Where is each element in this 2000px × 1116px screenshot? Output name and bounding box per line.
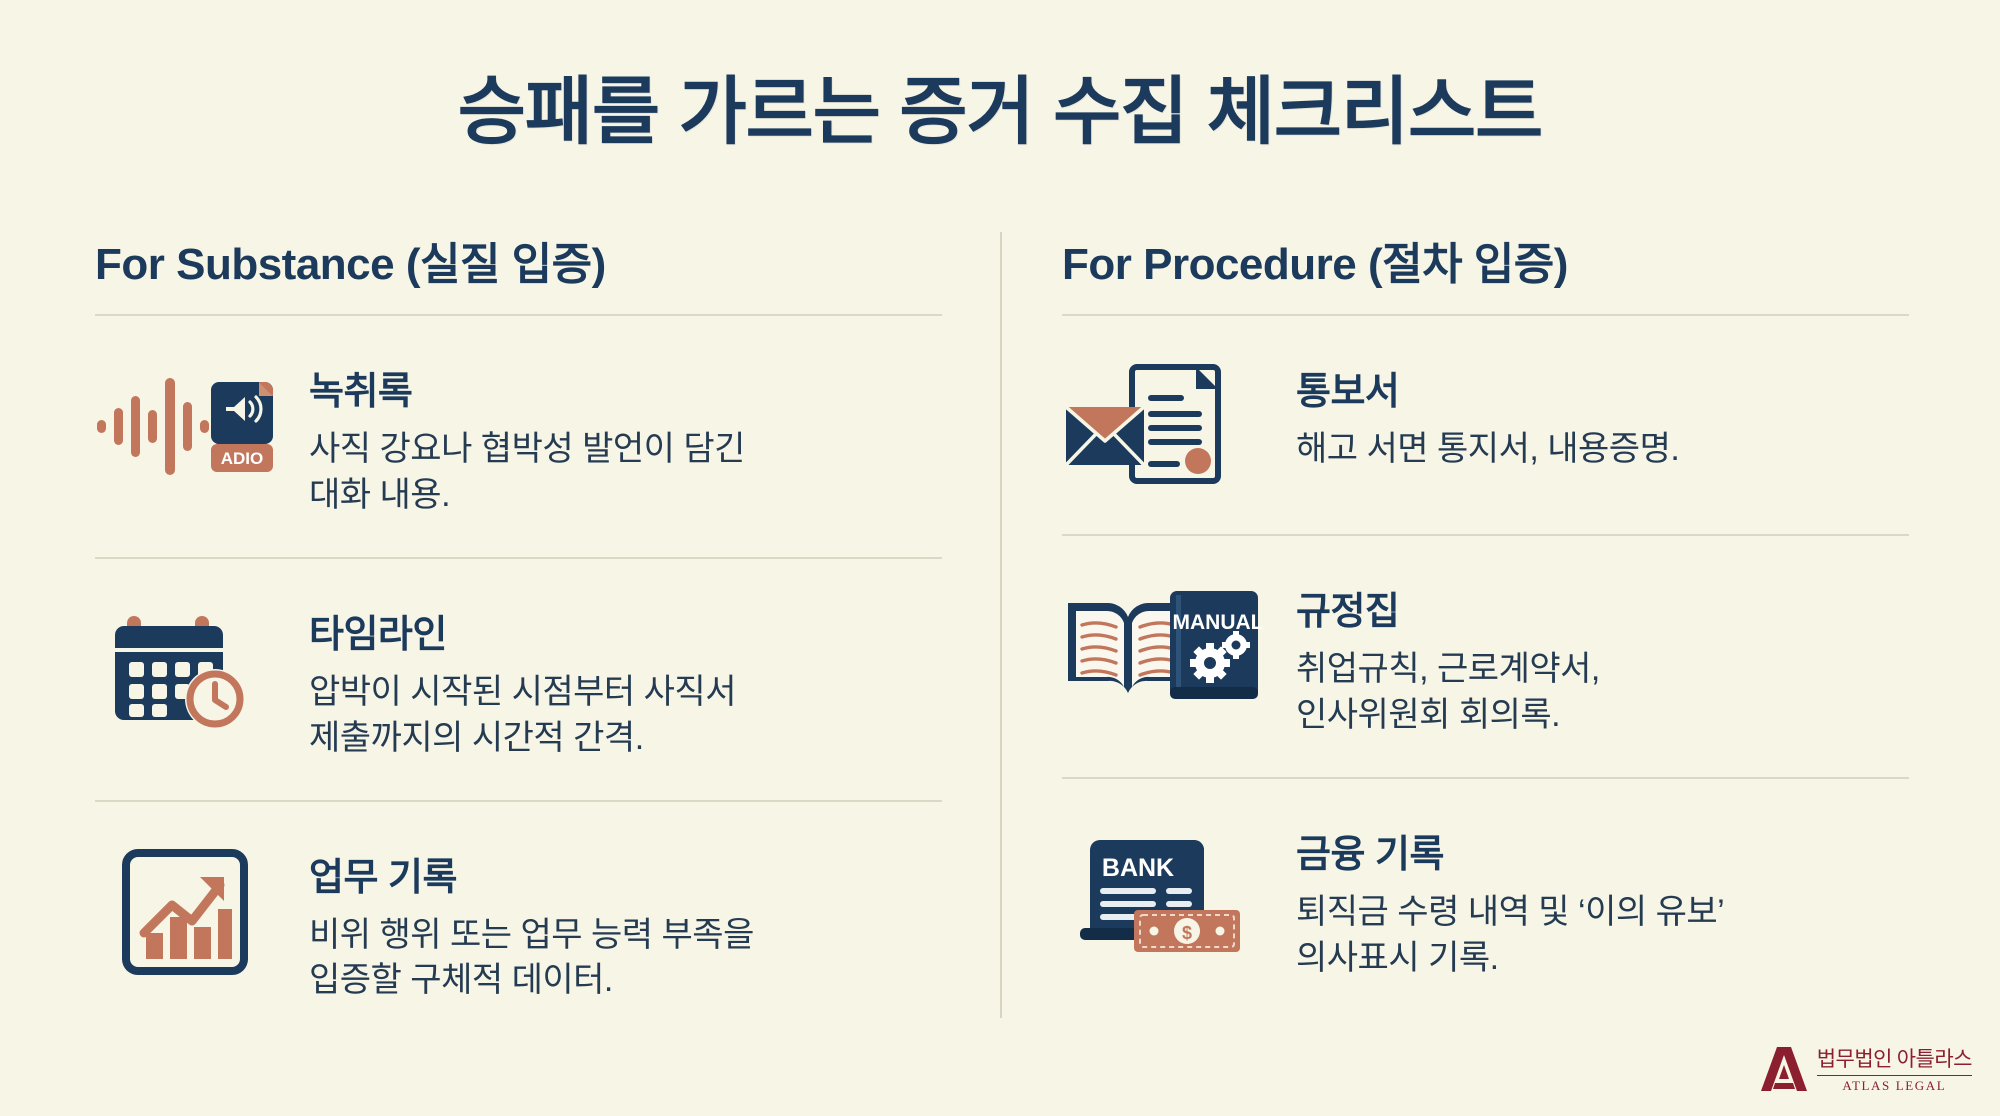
calendar-clock-icon: [95, 599, 275, 739]
audio-waveform-icon: ADIO: [95, 356, 275, 496]
item-text: 통보서 해고 서면 통지서, 내용증명.: [1296, 356, 1909, 473]
audio-icon-label: ADIO: [221, 449, 264, 468]
logo-english: ATLAS LEGAL: [1817, 1075, 1972, 1094]
item-title: 녹취록: [309, 360, 942, 415]
item-description: 퇴직금 수령 내역 및 ‘이의 유보’ 의사표시 기록.: [1296, 890, 1909, 982]
item-description: 해고 서면 통지서, 내용증명.: [1296, 427, 1909, 473]
item-description: 비위 행위 또는 업무 능력 부족을 입증할 구체적 데이터.: [309, 913, 942, 1005]
item-title: 통보서: [1296, 360, 1909, 415]
list-item: 통보서 해고 서면 통지서, 내용증명.: [1062, 316, 1909, 534]
brand-logo: 법무법인 아틀라스 ATLAS LEGAL: [1761, 1043, 1972, 1094]
column-heading-substance: For Substance (실질 입증): [95, 228, 942, 314]
columns-container: For Substance (실질 입증): [95, 228, 1910, 1042]
column-procedure: For Procedure (절차 입증): [1002, 228, 1909, 1042]
item-title: 금융 기록: [1296, 823, 1909, 878]
item-text: 타임라인 압박이 시작된 시점부터 사직서 제출까지의 시간적 간격.: [309, 599, 942, 762]
item-title: 규정집: [1296, 580, 1909, 635]
bank-icon-label: BANK: [1102, 854, 1174, 882]
bank-statement-money-icon: BANK: [1062, 819, 1262, 959]
item-text: 규정집 취업규칙, 근로계약서, 인사위원회 회의록.: [1296, 576, 1909, 739]
list-item: ADIO 녹취록 사직 강요나 협박성 발언이 담긴 대화 내용.: [95, 316, 942, 557]
item-title: 타임라인: [309, 603, 942, 658]
logo-korean: 법무법인 아틀라스: [1817, 1043, 1972, 1073]
item-description: 압박이 시작된 시점부터 사직서 제출까지의 시간적 간격.: [309, 670, 942, 762]
page-title: 승패를 가르는 증거 수집 체크리스트: [0, 52, 2000, 159]
bar-chart-growth-icon: [95, 842, 275, 982]
column-substance: For Substance (실질 입증): [95, 228, 1002, 1042]
column-heading-procedure: For Procedure (절차 입증): [1062, 228, 1909, 314]
item-description: 사직 강요나 협박성 발언이 담긴 대화 내용.: [309, 427, 942, 519]
infographic-page: 승패를 가르는 증거 수집 체크리스트 For Substance (실질 입증…: [0, 0, 2000, 1116]
item-description: 취업규칙, 근로계약서, 인사위원회 회의록.: [1296, 647, 1909, 739]
svg-text:$: $: [1182, 923, 1192, 943]
list-item: BANK: [1062, 779, 1909, 1020]
item-text: 업무 기록 비위 행위 또는 업무 능력 부족을 입증할 구체적 데이터.: [309, 842, 942, 1005]
manual-icon-label: MANUAL: [1173, 611, 1262, 634]
item-title: 업무 기록: [309, 846, 942, 901]
list-item: 업무 기록 비위 행위 또는 업무 능력 부족을 입증할 구체적 데이터.: [95, 802, 942, 1043]
atlas-a-mark-icon: [1761, 1045, 1807, 1093]
envelope-document-icon: [1062, 356, 1262, 496]
logo-text: 법무법인 아틀라스 ATLAS LEGAL: [1817, 1043, 1972, 1094]
item-text: 금융 기록 퇴직금 수령 내역 및 ‘이의 유보’ 의사표시 기록.: [1296, 819, 1909, 982]
list-item: MANUAL: [1062, 536, 1909, 777]
manual-book-icon: MANUAL: [1062, 576, 1262, 716]
list-item: 타임라인 압박이 시작된 시점부터 사직서 제출까지의 시간적 간격.: [95, 559, 942, 800]
item-text: 녹취록 사직 강요나 협박성 발언이 담긴 대화 내용.: [309, 356, 942, 519]
